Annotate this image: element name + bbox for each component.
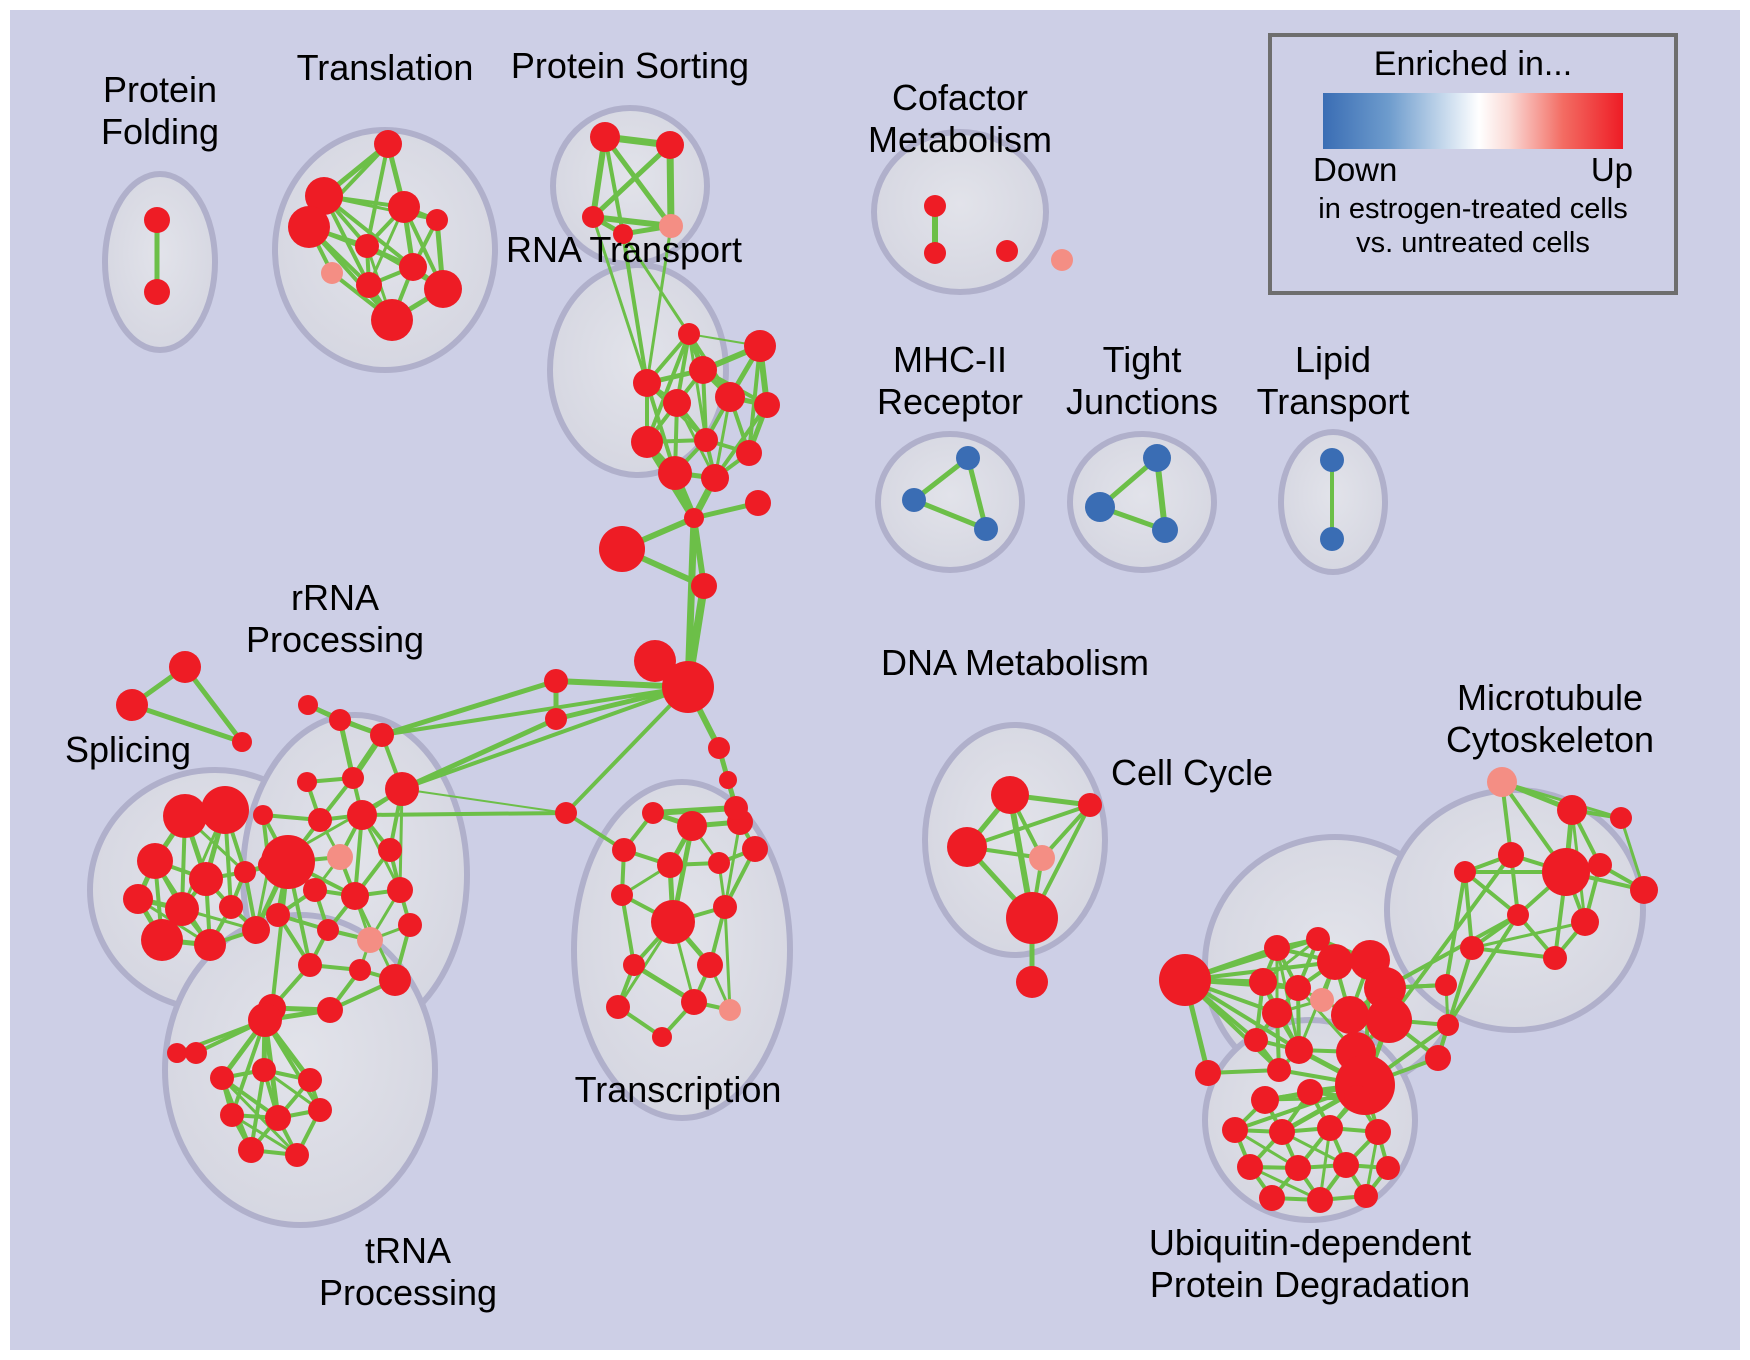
node-dna-metabolism — [1006, 892, 1058, 944]
edge-bridge — [362, 813, 566, 815]
node-rrna-processing — [342, 767, 364, 789]
node-transcription — [708, 852, 730, 874]
node-ubiquitin-protein-degradation — [1259, 1185, 1285, 1211]
node-rrna-processing — [327, 844, 353, 870]
cluster-label-ubiquitin-protein-degradation: Ubiquitin-dependentProtein Degradation — [1149, 1222, 1471, 1305]
node-tight-junctions — [1152, 517, 1178, 543]
node-cofactor-metabolism — [924, 195, 946, 217]
figure-root: ProteinFoldingTranslationProtein Sorting… — [0, 0, 1750, 1360]
node-cell-cycle — [1285, 1036, 1313, 1064]
node-tight-junctions — [1143, 444, 1171, 472]
node-mhc-ii-receptor — [902, 488, 926, 512]
node-splicing — [194, 929, 226, 961]
node-splicing — [123, 884, 153, 914]
node-mhc-ii-receptor — [974, 517, 998, 541]
node-rrna-processing — [297, 772, 317, 792]
node-protein-folding — [144, 279, 170, 305]
cluster-label-rrna-processing: rRNAProcessing — [246, 577, 424, 660]
node-lipid-transport — [1320, 448, 1344, 472]
node-cell-cycle — [1435, 974, 1457, 996]
node-rna-transport — [754, 392, 780, 418]
node-rna-transport — [694, 428, 718, 452]
node-ubiquitin-protein-degradation — [1376, 1156, 1400, 1180]
node-microtubule-cytoskeleton — [1610, 807, 1632, 829]
node-ubiquitin-protein-degradation — [1317, 1115, 1343, 1141]
cluster-label-microtubule-cytoskeleton: MicrotubuleCytoskeleton — [1446, 677, 1654, 760]
node-rrna-processing — [298, 695, 318, 715]
node-rrna-processing — [385, 772, 419, 806]
cluster-label-transcription: Transcription — [575, 1069, 782, 1110]
node-splicing — [201, 786, 249, 834]
node-rrna-processing — [341, 882, 369, 910]
legend-subtitle-line-2: vs. untreated cells — [1272, 227, 1674, 260]
node-transcription — [697, 952, 723, 978]
node-bridge — [724, 796, 748, 820]
node-cell-cycle — [1425, 1045, 1451, 1071]
node-rrna-processing — [298, 953, 322, 977]
cluster-label-cell-cycle: Cell Cycle — [1111, 752, 1273, 793]
node-translation — [426, 209, 448, 231]
legend-box: Enriched in... Down Up in estrogen-treat… — [1268, 33, 1678, 295]
node-transcription — [612, 838, 636, 862]
node-ubiquitin-protein-degradation — [1307, 1187, 1333, 1213]
node-rna-transport — [678, 323, 700, 345]
node-translation — [288, 206, 330, 248]
node-microtubule-cytoskeleton — [1630, 876, 1658, 904]
node-ubiquitin-protein-degradation — [1354, 1184, 1378, 1208]
node-transcription — [642, 802, 664, 824]
node-protein-sorting — [656, 131, 684, 159]
node-trna-processing — [210, 1066, 234, 1090]
cluster-hull-protein-folding — [105, 174, 215, 350]
node-transcription — [719, 999, 741, 1021]
node-bridge — [719, 771, 737, 789]
node-cell-cycle — [1285, 975, 1311, 1001]
node-translation — [399, 253, 427, 281]
node-rrna-processing — [308, 808, 332, 832]
node-microtubule-cytoskeleton — [1542, 848, 1590, 896]
node-rna-transport — [633, 369, 661, 397]
edge-bridge — [402, 687, 688, 789]
node-rrna-processing — [379, 964, 411, 996]
node-transcription — [677, 811, 707, 841]
node-cell-cycle — [1244, 1028, 1268, 1052]
node-ubiquitin-protein-degradation — [1237, 1154, 1263, 1180]
node-rrna-processing — [329, 709, 351, 731]
node-trna-processing — [265, 1105, 291, 1131]
node-bridge — [544, 669, 568, 693]
node-dna-metabolism — [1029, 845, 1055, 871]
edge-bridge — [382, 681, 556, 735]
node-lipid-transport — [1320, 527, 1344, 551]
node-rna-transport — [689, 356, 717, 384]
node-microtubule-cytoskeleton — [1543, 946, 1567, 970]
cluster-label-cofactor-metabolism: CofactorMetabolism — [868, 77, 1052, 160]
node-protein-sorting — [582, 206, 604, 228]
node-transcription — [623, 954, 645, 976]
node-bridge — [185, 1042, 207, 1064]
node-microtubule-cytoskeleton — [1460, 936, 1484, 960]
node-dna-metabolism — [991, 776, 1029, 814]
legend-title: Enriched in... — [1272, 37, 1674, 83]
node-cell-cycle — [1317, 944, 1353, 980]
node-transcription — [681, 989, 707, 1015]
cluster-label-rna-transport: RNA Transport — [506, 229, 742, 270]
node-translation — [424, 270, 462, 308]
node-splicing — [232, 732, 252, 752]
node-cofactor-metabolism — [924, 242, 946, 264]
node-bridge — [545, 708, 567, 730]
node-cofactor-metabolism — [1051, 249, 1073, 271]
node-translation — [356, 272, 382, 298]
node-translation — [388, 191, 420, 223]
node-translation — [374, 130, 402, 158]
node-splicing — [116, 689, 148, 721]
node-rrna-processing — [398, 913, 422, 937]
node-microtubule-cytoskeleton — [1507, 904, 1529, 926]
node-rrna-processing — [349, 959, 371, 981]
node-translation — [371, 299, 413, 341]
node-rrna-processing — [303, 878, 327, 902]
node-cofactor-metabolism — [996, 240, 1018, 262]
node-microtubule-cytoskeleton — [1571, 908, 1599, 936]
cluster-label-tight-junctions: TightJunctions — [1066, 339, 1218, 422]
cluster-hull-mhc-ii-receptor — [878, 434, 1022, 570]
node-rna-transport — [744, 330, 776, 362]
node-microtubule-cytoskeleton — [1498, 842, 1524, 868]
node-cell-cycle — [1159, 954, 1211, 1006]
node-dna-metabolism — [947, 827, 987, 867]
node-cell-cycle — [1366, 997, 1412, 1043]
node-microtubule-cytoskeleton — [1588, 853, 1612, 877]
node-ubiquitin-protein-degradation — [1222, 1117, 1248, 1143]
node-rrna-processing — [317, 997, 343, 1023]
node-transcription — [606, 995, 630, 1019]
cluster-label-protein-sorting: Protein Sorting — [511, 45, 749, 86]
node-rrna-processing — [378, 838, 402, 862]
cluster-label-mhc-ii-receptor: MHC-IIReceptor — [877, 339, 1023, 422]
node-ubiquitin-protein-degradation — [1251, 1086, 1279, 1114]
node-rrna-processing — [261, 835, 315, 889]
node-trna-processing — [238, 1137, 264, 1163]
node-protein-sorting — [590, 122, 620, 152]
node-splicing — [137, 843, 173, 879]
node-trna-processing — [248, 1003, 282, 1037]
node-protein-folding — [144, 207, 170, 233]
legend-up-label: Up — [1591, 151, 1633, 189]
node-trna-processing — [298, 1068, 322, 1092]
node-dna-metabolism — [1016, 966, 1048, 998]
node-ubiquitin-protein-degradation — [1269, 1119, 1295, 1145]
node-cell-cycle — [1267, 1058, 1291, 1082]
node-rna-transport — [736, 440, 762, 466]
node-rna-transport — [715, 382, 745, 412]
node-cell-cycle — [1249, 968, 1277, 996]
node-microtubule-cytoskeleton — [1487, 767, 1517, 797]
node-microtubule-cytoskeleton — [1557, 795, 1587, 825]
cluster-label-trna-processing: tRNAProcessing — [319, 1230, 497, 1313]
cluster-label-translation: Translation — [297, 47, 474, 88]
node-rrna-processing — [387, 877, 413, 903]
node-splicing — [189, 862, 223, 896]
node-rrna-processing — [370, 723, 394, 747]
node-transcription — [651, 900, 695, 944]
node-rna-transport — [631, 426, 663, 458]
node-translation — [355, 234, 379, 258]
node-splicing — [163, 794, 207, 838]
node-bridge — [691, 573, 717, 599]
node-bridge — [745, 490, 771, 516]
node-rrna-processing — [317, 919, 339, 941]
node-tight-junctions — [1085, 492, 1115, 522]
node-splicing — [234, 861, 256, 883]
node-splicing — [219, 895, 243, 919]
node-bridge — [684, 508, 704, 528]
cluster-label-protein-folding: ProteinFolding — [101, 69, 219, 152]
node-trna-processing — [308, 1098, 332, 1122]
node-rna-transport — [701, 464, 729, 492]
legend-down-label: Down — [1313, 151, 1397, 189]
cluster-label-splicing: Splicing — [65, 729, 191, 770]
cluster-label-lipid-transport: LipidTransport — [1257, 339, 1410, 422]
node-transcription — [611, 884, 633, 906]
node-rrna-processing — [347, 800, 377, 830]
node-rrna-processing — [253, 805, 273, 825]
node-translation — [321, 262, 343, 284]
node-ubiquitin-protein-degradation — [1297, 1079, 1323, 1105]
node-cell-cycle — [1310, 988, 1334, 1012]
node-trna-processing — [220, 1103, 244, 1127]
node-trna-processing — [167, 1043, 187, 1063]
node-dna-metabolism — [1078, 793, 1102, 817]
node-splicing — [141, 919, 183, 961]
node-transcription — [742, 836, 768, 862]
node-ubiquitin-protein-degradation — [1365, 1119, 1391, 1145]
node-cell-cycle — [1331, 996, 1369, 1034]
legend-gradient-bar — [1323, 93, 1623, 149]
node-splicing — [242, 916, 270, 944]
node-splicing — [169, 651, 201, 683]
node-bridge — [599, 526, 645, 572]
node-cell-cycle — [1264, 935, 1290, 961]
node-rrna-processing — [266, 903, 290, 927]
node-ubiquitin-protein-degradation — [1333, 1152, 1359, 1178]
node-transcription — [713, 895, 737, 919]
node-transcription — [652, 1027, 672, 1047]
node-cell-cycle — [1437, 1014, 1459, 1036]
node-ubiquitin-protein-degradation — [1344, 1085, 1370, 1111]
node-trna-processing — [285, 1143, 309, 1167]
node-bridge — [708, 737, 730, 759]
node-ubiquitin-protein-degradation — [1285, 1155, 1311, 1181]
node-rna-transport — [663, 389, 691, 417]
node-trna-processing — [252, 1058, 276, 1082]
node-cell-cycle — [1262, 998, 1292, 1028]
node-rrna-processing — [357, 927, 383, 953]
cluster-label-dna-metabolism: DNA Metabolism — [881, 642, 1149, 683]
node-bridge — [662, 661, 714, 713]
node-mhc-ii-receptor — [956, 446, 980, 470]
node-rna-transport — [658, 456, 692, 490]
node-bridge — [555, 802, 577, 824]
legend-subtitle-line-1: in estrogen-treated cells — [1272, 193, 1674, 226]
node-microtubule-cytoskeleton — [1454, 861, 1476, 883]
node-transcription — [657, 852, 683, 878]
node-cell-cycle — [1195, 1060, 1221, 1086]
